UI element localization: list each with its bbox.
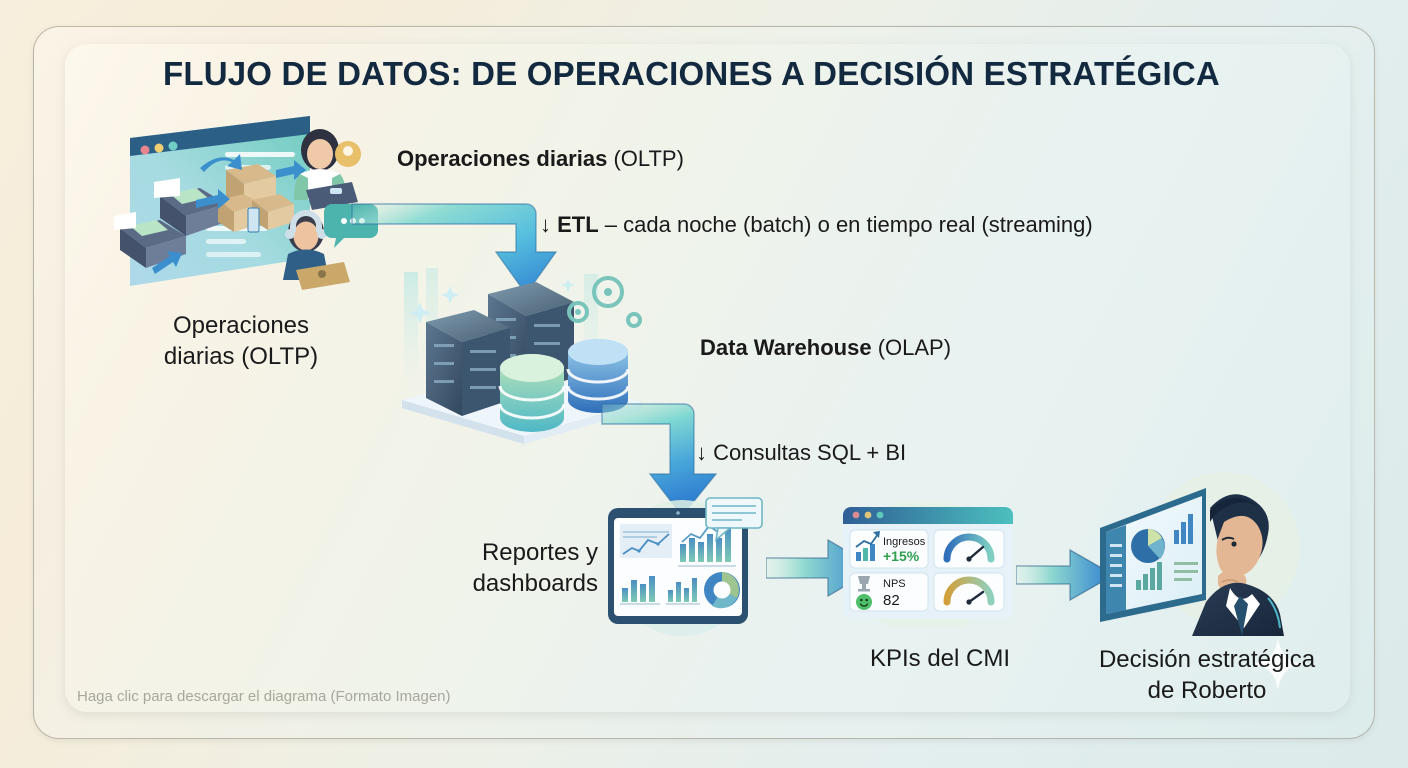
dashboard-tablet-illustration [596,492,768,638]
oltp-heading-rest: (OLTP) [607,146,684,171]
kpi-ingresos-value: +15% [883,548,920,564]
oltp-caption-line2: diarias (OLTP) [126,342,356,373]
page-title: FLUJO DE DATOS: DE OPERACIONES A DECISIÓ… [163,55,1220,93]
kpi-nps-value: 82 [883,592,900,609]
kpi-nps-label: NPS [883,578,906,590]
warehouse-heading-rest: (OLAP) [872,335,951,360]
etl-label: ↓ ETL – cada noche (batch) o en tiempo r… [540,212,1093,238]
decision-caption: Decisión estratégica de Roberto [1062,645,1352,706]
oltp-illustration [100,108,382,304]
etl-arrow-glyph: ↓ [540,212,557,237]
download-hint[interactable]: Haga clic para descargar el diagrama (Fo… [77,688,451,705]
oltp-caption: Operaciones diarias (OLTP) [126,311,356,372]
reports-caption-line2: dashboards [420,569,598,600]
etl-label-bold: ETL [557,212,599,237]
decision-illustration [1082,470,1332,636]
kpi-panel-illustration: Ingresos +15% NPS 82 [837,503,1019,627]
oltp-heading: Operaciones diarias (OLTP) [397,146,684,172]
kpi-ingresos-label: Ingresos [883,536,926,548]
reports-caption-line1: Reportes y [420,538,598,569]
warehouse-heading-bold: Data Warehouse [700,335,872,360]
decision-caption-line1: Decisión estratégica [1062,645,1352,676]
decision-caption-line2: de Roberto [1062,676,1352,707]
warehouse-heading: Data Warehouse (OLAP) [700,335,951,361]
kpi-caption: KPIs del CMI [820,645,1060,673]
sql-query-label: ↓ Consultas SQL + BI [696,440,906,466]
oltp-heading-bold: Operaciones diarias [397,146,607,171]
oltp-caption-line1: Operaciones [126,311,356,342]
etl-label-rest: – cada noche (batch) o en tiempo real (s… [599,212,1093,237]
reports-caption: Reportes y dashboards [420,538,598,599]
